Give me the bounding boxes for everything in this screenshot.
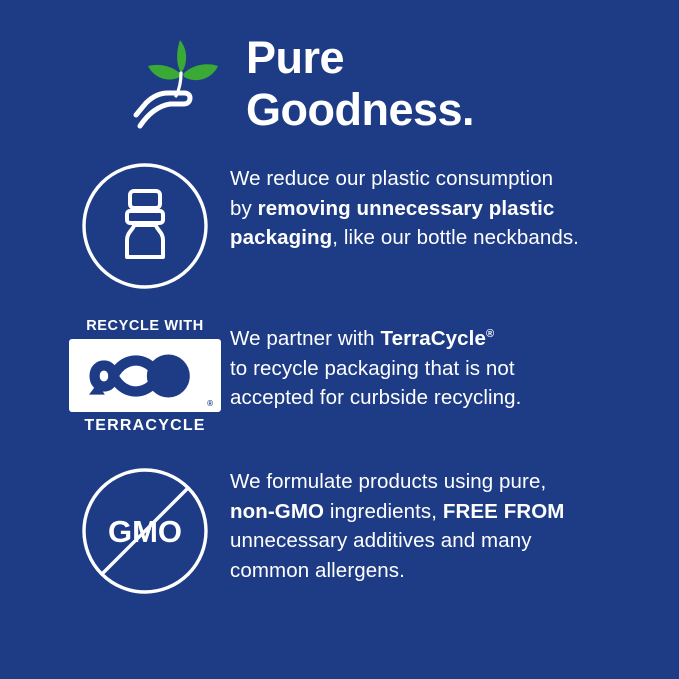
text-line-2c: FREE FROM <box>443 500 565 523</box>
text-line-3b: , like our bottle neckbands. <box>332 226 579 249</box>
text-line-1: We reduce our plastic consumption <box>230 167 553 190</box>
text-line-3a: packaging <box>230 226 332 249</box>
icon-cell <box>60 158 230 292</box>
leaf-in-hand-icon <box>128 30 232 134</box>
feature-text-gmo: We formulate products using pure, non-GM… <box>230 461 657 585</box>
terracycle-logo: RECYCLE WITH ® TERRACYCLE <box>69 318 221 435</box>
icon-cell: GMO <box>60 461 230 597</box>
icon-cell: RECYCLE WITH ® TERRACYCLE <box>60 318 230 435</box>
header: Pure Goodness. <box>0 0 679 136</box>
page-title: Pure Goodness. <box>246 28 474 136</box>
text-line-3: unnecessary additives and many <box>230 529 532 552</box>
headline-line-1: Pure <box>246 32 474 84</box>
text-line-1a: We partner with <box>230 327 380 350</box>
text-line-1c: ® <box>486 329 494 341</box>
text-line-4: common allergens. <box>230 559 405 582</box>
feature-text-plastic: We reduce our plastic consumption by rem… <box>230 158 657 253</box>
text-line-3: accepted for curbside recycling. <box>230 386 521 409</box>
text-line-1b: TerraCycle <box>380 327 485 350</box>
bottle-neckband-icon <box>79 160 211 292</box>
text-line-2a: non-GMO <box>230 500 324 523</box>
feature-row-plastic: We reduce our plastic consumption by rem… <box>0 158 679 292</box>
no-gmo-icon: GMO <box>79 465 211 597</box>
text-line-2b: removing unnecessary plastic <box>258 197 555 220</box>
feature-row-gmo: GMO We formulate products using pure, no… <box>0 461 679 597</box>
promo-panel: Pure Goodness. We reduce our plastic con… <box>0 0 679 679</box>
text-line-2a: by <box>230 197 258 220</box>
feature-rows: We reduce our plastic consumption by rem… <box>0 158 679 597</box>
gmo-label: GMO <box>108 514 182 549</box>
text-line-2b: ingredients, <box>324 500 443 523</box>
feature-text-terracycle: We partner with TerraCycle® to recycle p… <box>230 318 657 413</box>
text-line-1: We formulate products using pure, <box>230 470 546 493</box>
terracycle-mark: ® <box>69 339 221 412</box>
text-line-2: to recycle packaging that is not <box>230 357 515 380</box>
headline-line-2: Goodness. <box>246 84 474 136</box>
terracycle-bottom-label: TERRACYCLE <box>69 417 221 435</box>
registered-mark: ® <box>207 399 213 408</box>
feature-row-terracycle: RECYCLE WITH ® TERRACYCLE <box>0 318 679 435</box>
terracycle-top-label: RECYCLE WITH <box>69 318 221 334</box>
